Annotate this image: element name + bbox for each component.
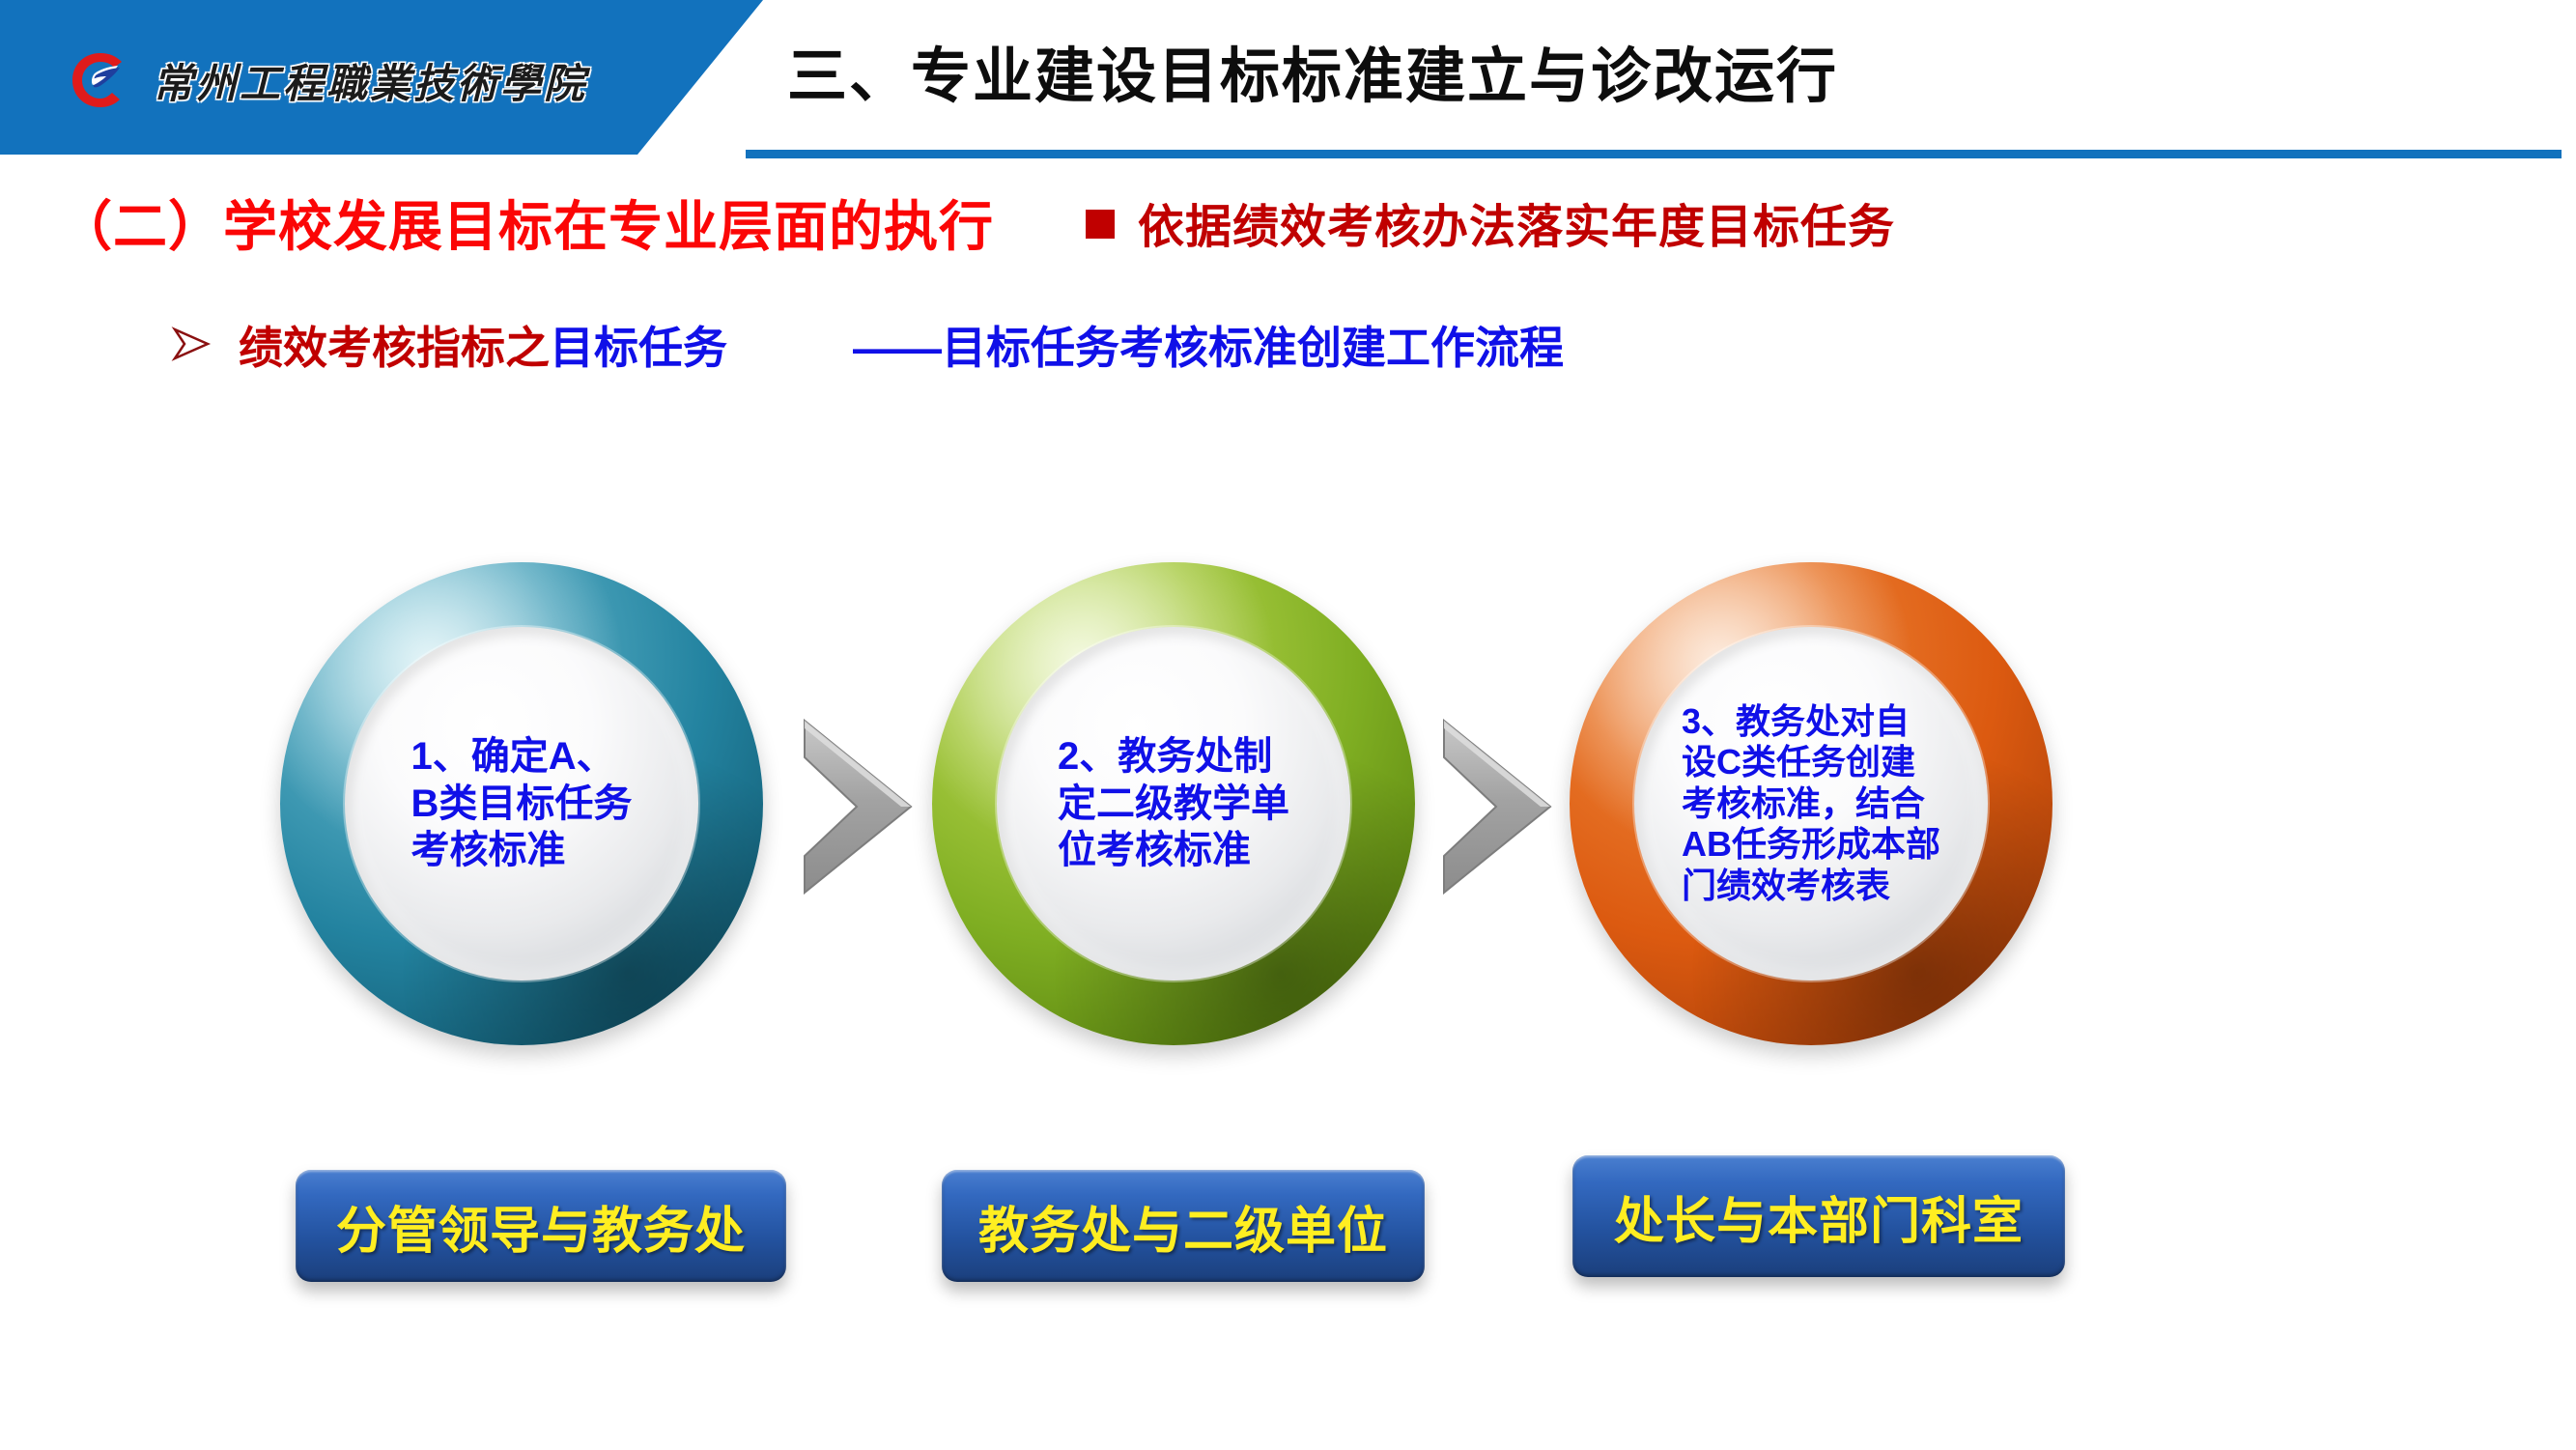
subtitle-row-secondary: 绩效考核指标之 目标任务 ——目标任务考核标准创建工作流程 (169, 311, 2535, 379)
flow-owner-label-2: 教务处与二级单位 (978, 1190, 1388, 1263)
page-title: 三、专业建设目标标准建立与诊改运行 (787, 27, 1838, 114)
bullet-text-blue: 目标任务 (550, 313, 727, 377)
header-divider (746, 150, 2562, 158)
section-note-group: 依据绩效考核办法落实年度目标任务 (1086, 188, 1895, 256)
flow-step-label-2: 2、教务处制 定二级教学单 位考核标准 (1058, 733, 1289, 874)
chevron-right-icon (797, 715, 922, 898)
flow-owner-pill-3[interactable]: 处长与本部门科室 (1572, 1155, 2065, 1277)
flow-owner-pill-2[interactable]: 教务处与二级单位 (942, 1170, 1425, 1282)
slide-canvas: 常州工程職業技術學院 三、专业建设目标标准建立与诊改运行 （二）学校发展目标在专… (0, 0, 2576, 1450)
flow-step-label-3: 3、教务处对自 设C类任务创建 考核标准，结合 AB任务形成本部 门绩效考核表 (1682, 701, 1940, 906)
bullet-text-flow-caption: ——目标任务考核标准创建工作流程 (853, 313, 1564, 377)
flow-step-circle-3[interactable]: 3、教务处对自 设C类任务创建 考核标准，结合 AB任务形成本部 门绩效考核表 (1570, 562, 2052, 1045)
ring-inner-disc: 1、确定A、 B类目标任务 考核标准 (345, 627, 698, 981)
flow-owner-label-3: 处长与本部门科室 (1614, 1180, 2024, 1253)
school-logo-text: 常州工程職業技術學院 (153, 51, 587, 110)
bullet-text-red: 绩效考核指标之 (239, 313, 550, 377)
flow-owner-label-1: 分管领导与教务处 (336, 1190, 746, 1263)
flow-step-circle-2[interactable]: 2、教务处制 定二级教学单 位考核标准 (932, 562, 1415, 1045)
flow-step-circle-1[interactable]: 1、确定A、 B类目标任务 考核标准 (280, 562, 763, 1045)
school-logo: 常州工程職業技術學院 (70, 50, 587, 110)
arrow-bullet-icon (169, 322, 213, 371)
flow-owner-pill-1[interactable]: 分管领导与教务处 (296, 1170, 786, 1282)
section-heading: （二）学校发展目标在专业层面的执行 (58, 184, 994, 262)
subtitle-row-primary: （二）学校发展目标在专业层面的执行 依据绩效考核办法落实年度目标任务 (58, 184, 2531, 261)
flow-step-label-1: 1、确定A、 B类目标任务 考核标准 (411, 733, 633, 874)
chevron-right-icon (1436, 715, 1562, 898)
school-emblem-icon (70, 50, 131, 110)
section-note: 依据绩效考核办法落实年度目标任务 (1138, 188, 1895, 256)
ring-inner-disc: 3、教务处对自 设C类任务创建 考核标准，结合 AB任务形成本部 门绩效考核表 (1634, 627, 1988, 981)
square-bullet-icon (1086, 210, 1115, 239)
ring-inner-disc: 2、教务处制 定二级教学单 位考核标准 (997, 627, 1350, 981)
